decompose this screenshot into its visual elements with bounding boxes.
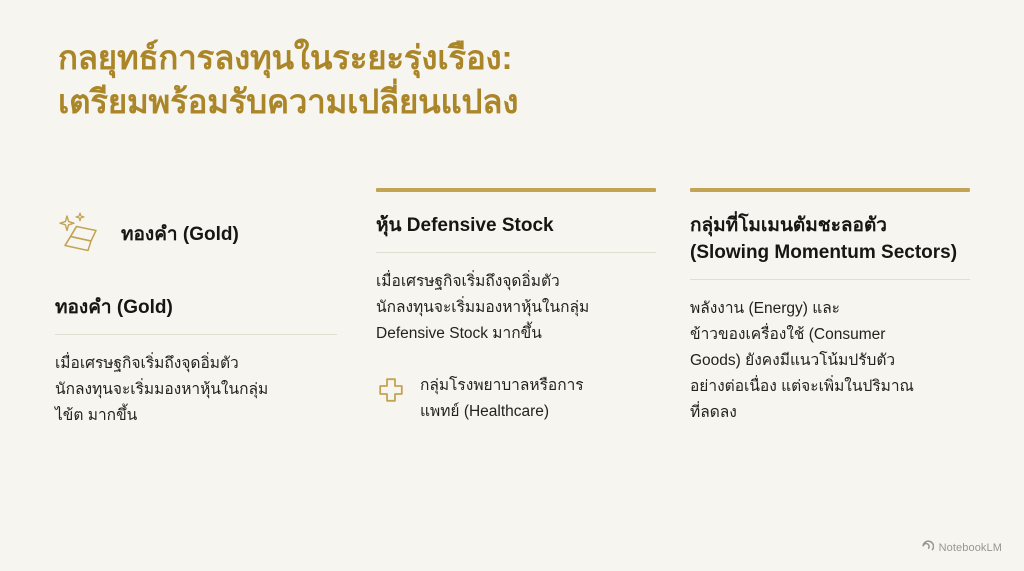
column-defensive-heading: หุ้น Defensive Stock [376, 212, 656, 239]
healthcare-sub-text: กลุ่มโรงพยาบาลหรือการ แพทย์ (Healthcare) [420, 373, 584, 425]
body-line: ข้าวของเครื่องใช้ (Consumer [690, 322, 970, 348]
heading-line: กลุ่มที่โมเมนตัมชะลอตัว [690, 215, 887, 236]
heading-divider [55, 334, 337, 335]
column-gold-body: เมื่อเศรษฐกิจเริ่มถึงจุดอิ่มตัว นักลงทุน… [55, 351, 337, 429]
body-line: ที่ลดลง [690, 400, 970, 426]
body-line: อย่างต่อเนื่อง แต่จะเพิ่มในปริมาณ [690, 374, 970, 400]
body-line: Defensive Stock มากขึ้น [376, 321, 656, 347]
heading-line: Sectors) [881, 242, 957, 263]
sub-line: แพทย์ (Healthcare) [420, 399, 584, 425]
notebooklm-watermark: NotebookLM [921, 539, 1002, 557]
page-title-line-1: กลยุทธ์การลงทุนในระยะรุ่งเรือง: [58, 36, 818, 80]
columns-container: ทองคำ (Gold) ทองคำ (Gold) เมื่อเศรษฐกิจเ… [0, 188, 1024, 518]
column-gold-heading: ทองคำ (Gold) [55, 294, 337, 321]
heading-line: (Slowing Momentum [690, 242, 876, 263]
body-line: ไข้ต มากขึ้น [55, 403, 337, 429]
column-gold: ทองคำ (Gold) ทองคำ (Gold) เมื่อเศรษฐกิจเ… [55, 188, 337, 429]
body-line: Goods) ยังคงมีแนวโน้มปรับตัว [690, 348, 970, 374]
column-defensive-stock: หุ้น Defensive Stock เมื่อเศรษฐกิจเริ่มถ… [376, 188, 656, 425]
notebooklm-label: NotebookLM [939, 542, 1002, 554]
medical-cross-icon [376, 373, 406, 407]
sub-line: กลุ่มโรงพยาบาลหรือการ [420, 373, 584, 399]
heading-divider [690, 279, 970, 280]
body-line: เมื่อเศรษฐกิจเริ่มถึงจุดอิ่มตัว [55, 351, 337, 377]
notebooklm-logo-icon [921, 539, 934, 557]
gold-bar-icon [55, 212, 107, 258]
healthcare-sub-item: กลุ่มโรงพยาบาลหรือการ แพทย์ (Healthcare) [376, 373, 656, 425]
body-line: นักลงทุนจะเริ่มมองหาหุ้นในกลุ่ม [55, 377, 337, 403]
column-slowing-momentum: กลุ่มที่โมเมนตัมชะลอตัว (Slowing Momentu… [690, 188, 970, 426]
gold-icon-label: ทองคำ (Gold) [121, 222, 239, 248]
body-line: พลังงาน (Energy) และ [690, 296, 970, 322]
column-top-rule [690, 188, 970, 192]
column-slowing-body: พลังงาน (Energy) และ ข้าวของเครื่องใช้ (… [690, 296, 970, 426]
gold-icon-row: ทองคำ (Gold) [55, 212, 337, 258]
body-line: เมื่อเศรษฐกิจเริ่มถึงจุดอิ่มตัว [376, 269, 656, 295]
body-line: นักลงทุนจะเริ่มมองหาหุ้นในกลุ่ม [376, 295, 656, 321]
page-title-line-2: เตรียมพร้อมรับความเปลี่ยนแปลง [58, 80, 818, 124]
heading-divider [376, 252, 656, 253]
column-defensive-body: เมื่อเศรษฐกิจเริ่มถึงจุดอิ่มตัว นักลงทุน… [376, 269, 656, 347]
page-title: กลยุทธ์การลงทุนในระยะรุ่งเรือง: เตรียมพร… [58, 36, 818, 124]
column-top-rule [376, 188, 656, 192]
column-slowing-heading: กลุ่มที่โมเมนตัมชะลอตัว (Slowing Momentu… [690, 212, 970, 266]
